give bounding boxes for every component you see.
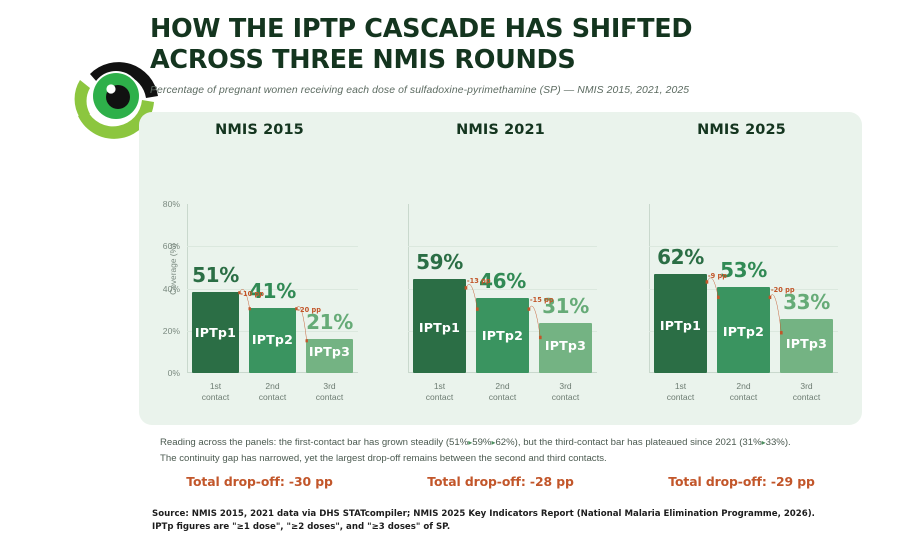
total-dropoff-1: Total drop-off: -30 pp [139, 474, 380, 489]
x-axis-tick: 1stcontact [187, 381, 244, 403]
dropoff-label: -20 pp [297, 306, 321, 314]
dropoff-label: -20 pp [771, 286, 795, 294]
bar-slot: IPTp246%2ndcontact [471, 204, 534, 373]
bar-series-label: IPTp2 [476, 328, 529, 343]
bar-series-label: IPTp1 [413, 320, 466, 335]
total-dropoff-3: Total drop-off: -29 pp [621, 474, 862, 489]
source-note: Source: NMIS 2015, 2021 data via DHS STA… [152, 508, 872, 535]
chart-card: NMIS 20150%20%40%60%80%IPTp151%1stcontac… [139, 112, 862, 425]
reading-line2: The continuity gap has narrowed, yet the… [160, 453, 607, 464]
x-axis-tick: 1stcontact [408, 381, 471, 403]
chart-panel-3: NMIS 2025IPTp162%1stcontactIPTp253%2ndco… [621, 112, 862, 425]
bar-series-label: IPTp2 [249, 332, 297, 347]
bar-iptp3[interactable]: IPTp3 [780, 319, 833, 373]
bar-slot: IPTp331%3rdcontact [534, 204, 597, 373]
bar-group: IPTp151%1stcontactIPTp241%2ndcontactIPTp… [187, 204, 358, 373]
y-axis-tick: 20% [163, 326, 180, 336]
y-axis-tick: 0% [168, 368, 180, 378]
source-line-1: Source: NMIS 2015, 2021 data via DHS STA… [152, 508, 872, 521]
chart-panel-2: NMIS 2021IPTp159%1stcontactIPTp246%2ndco… [380, 112, 621, 425]
bar-series-label: IPTp3 [539, 338, 592, 353]
bar-series-label: IPTp3 [306, 344, 354, 359]
bar-iptp1[interactable]: IPTp1 [654, 274, 707, 373]
bar-iptp1[interactable]: IPTp1 [413, 279, 466, 373]
bar-iptp3[interactable]: IPTp3 [306, 339, 354, 373]
bar-iptp3[interactable]: IPTp3 [539, 323, 592, 373]
title-block: How the IPTp cascade has shifted across … [150, 14, 880, 96]
reading-note: Reading across the panels: the first-con… [160, 435, 860, 467]
y-axis-tick: 80% [163, 199, 180, 209]
page-title: How the IPTp cascade has shifted across … [150, 14, 790, 76]
bar-value-label: 53% [720, 258, 767, 282]
header: How the IPTp cascade has shifted across … [0, 0, 900, 112]
bar-iptp1[interactable]: IPTp1 [192, 292, 240, 373]
dropoff-label: -9 pp [708, 272, 727, 280]
x-axis-tick: 3rdcontact [775, 381, 838, 403]
x-axis-tick: 2ndcontact [244, 381, 301, 403]
bar-series-label: IPTp3 [780, 336, 833, 351]
chart-panels: NMIS 20150%20%40%60%80%IPTp151%1stcontac… [139, 112, 862, 425]
bar-series-label: IPTp1 [654, 318, 707, 333]
infographic-page: How the IPTp cascade has shifted across … [0, 0, 900, 542]
source-line-2: IPTp figures are "≥1 dose", "≥2 doses", … [152, 521, 872, 534]
x-axis-tick: 3rdcontact [301, 381, 358, 403]
bar-value-label: 62% [657, 245, 704, 269]
x-axis-tick: 2ndcontact [471, 381, 534, 403]
plot-area: IPTp162%1stcontactIPTp253%2ndcontactIPTp… [649, 204, 838, 373]
bar-slot: IPTp159%1stcontact [408, 204, 471, 373]
bar-series-label: IPTp1 [192, 325, 240, 340]
dropoff-label: -10 pp [240, 290, 264, 298]
bar-series-label: IPTp2 [717, 324, 770, 339]
panel-title: NMIS 2025 [621, 122, 862, 138]
y-axis-title: Coverage (%) [168, 243, 178, 295]
bar-iptp2[interactable]: IPTp2 [476, 298, 529, 373]
plot-area: 0%20%40%60%80%IPTp151%1stcontactIPTp241%… [187, 204, 358, 373]
bar-slot: IPTp253%2ndcontact [712, 204, 775, 373]
x-axis-tick: 3rdcontact [534, 381, 597, 403]
total-dropoff-row: Total drop-off: -30 ppTotal drop-off: -2… [139, 474, 862, 489]
bar-value-label: 51% [192, 263, 239, 287]
bar-slot: IPTp321%3rdcontact [301, 204, 358, 373]
reading-line1-a: Reading across the panels: the first-con… [160, 437, 468, 448]
page-subtitle: Percentage of pregnant women receiving e… [150, 85, 880, 96]
panel-title: NMIS 2021 [380, 122, 621, 138]
reading-line1-d: 33%). [766, 437, 791, 448]
bar-group: IPTp159%1stcontactIPTp246%2ndcontactIPTp… [408, 204, 597, 373]
plot-area: IPTp159%1stcontactIPTp246%2ndcontactIPTp… [408, 204, 597, 373]
bar-group: IPTp162%1stcontactIPTp253%2ndcontactIPTp… [649, 204, 838, 373]
reading-line1-c: 62%), but the third-contact bar has plat… [495, 437, 761, 448]
panel-title: NMIS 2015 [139, 122, 380, 138]
x-axis-tick: 2ndcontact [712, 381, 775, 403]
bar-slot: IPTp162%1stcontact [649, 204, 712, 373]
total-dropoff-2: Total drop-off: -28 pp [380, 474, 621, 489]
bar-slot: IPTp151%1stcontact [187, 204, 244, 373]
bar-slot: IPTp241%2ndcontact [244, 204, 301, 373]
reading-line1-b: 59% [472, 437, 491, 448]
bar-value-label: 59% [416, 250, 463, 274]
bar-iptp2[interactable]: IPTp2 [249, 308, 297, 373]
bar-iptp2[interactable]: IPTp2 [717, 287, 770, 373]
dropoff-label: -15 pp [530, 296, 554, 304]
dropoff-label: -13 pp [467, 277, 491, 285]
x-axis-tick: 1stcontact [649, 381, 712, 403]
chart-panel-1: NMIS 20150%20%40%60%80%IPTp151%1stcontac… [139, 112, 380, 425]
